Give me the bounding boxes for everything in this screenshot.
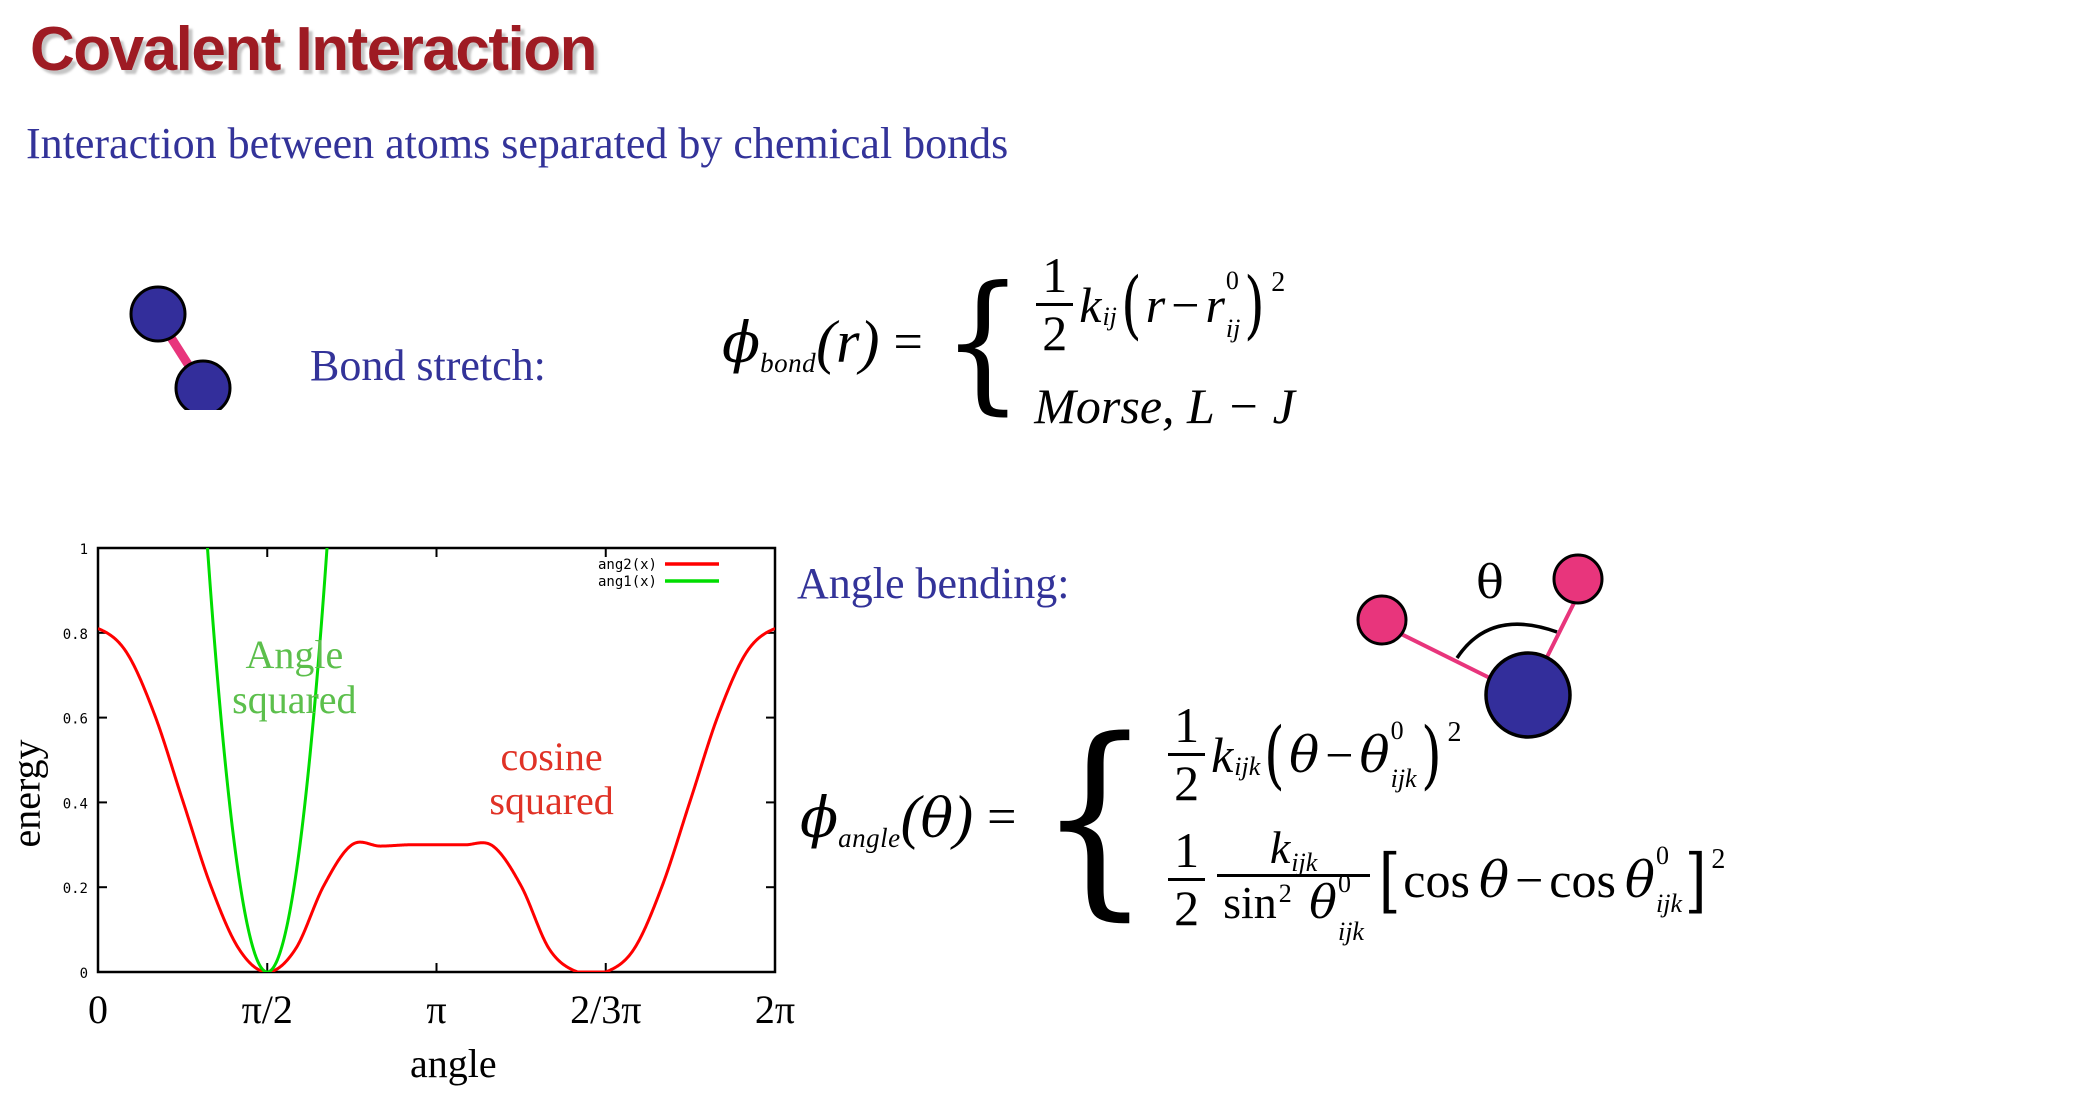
- paren-close: ): [953, 783, 973, 852]
- x-tick-label: π: [426, 986, 446, 1033]
- legend-label: ang1(x): [598, 574, 657, 590]
- atom-circle-2: [176, 361, 230, 410]
- atom-circle-1: [131, 287, 185, 341]
- phi-symbol: ϕ: [800, 786, 838, 851]
- y-axis-title: energy: [3, 739, 50, 847]
- x-tick-label: 2/3π: [570, 986, 641, 1033]
- fraction-denominator: 2: [1168, 758, 1205, 809]
- ratio-numerator: kijk: [1264, 825, 1323, 872]
- one-half-fraction: 1 2: [1168, 825, 1205, 934]
- theta-symbol: θ: [1289, 726, 1319, 784]
- theta0-symbol: θ: [1359, 726, 1389, 784]
- fraction-numerator: 1: [1168, 700, 1205, 751]
- k-subscript: ij: [1102, 302, 1116, 332]
- close-paren: ): [1244, 262, 1265, 348]
- fraction-numerator: 1: [1036, 250, 1073, 301]
- y-tick-label: 0.2: [63, 881, 88, 897]
- phi-subscript: angle: [838, 823, 901, 854]
- theta0-subsup: 0 ijk: [1656, 856, 1682, 908]
- x-tick-label: 0: [88, 986, 108, 1033]
- cos-function-2: cos: [1549, 851, 1616, 909]
- legend: ang2(x)ang1(x): [598, 557, 719, 590]
- y-tick-label: 1: [80, 542, 88, 558]
- theta0-subsup: 0 ijk: [1391, 731, 1417, 783]
- one-half-fraction: 1 2: [1168, 700, 1205, 809]
- outer-atom-left: [1358, 596, 1406, 644]
- bond-cases: 1 2 kij ( r − r 0 ij )2 Morse, L − J: [1030, 250, 1295, 435]
- annotation-angle-squared: Anglesquared: [232, 633, 356, 723]
- theta0-superscript: 0: [1338, 871, 1364, 897]
- square-exponent: 2: [1447, 717, 1461, 749]
- theta-symbol: θ: [1479, 851, 1509, 909]
- minus-sign: −: [1325, 726, 1353, 784]
- theta0-symbol: θ: [1625, 851, 1655, 909]
- y-tick-label: 0.8: [63, 627, 88, 643]
- r0-symbol: r: [1205, 276, 1224, 334]
- curve-ang2: [98, 629, 775, 972]
- cases-brace: {: [1039, 735, 1153, 899]
- paren-open: (: [901, 783, 921, 852]
- theta0-superscript: 0: [1391, 718, 1417, 744]
- cases-brace: {: [942, 284, 1023, 401]
- minus-sign: −: [1515, 851, 1543, 909]
- k-symbol: k: [1270, 825, 1290, 872]
- theta0-subsup: 0 ijk: [1338, 884, 1364, 936]
- bond-equation-lhs: ϕbond(r): [722, 308, 879, 377]
- theta0-subscript: ijk: [1338, 919, 1364, 945]
- phi-symbol: ϕ: [722, 311, 760, 376]
- angle-case-harmonic: 1 2 kijk ( θ − θ 0 ijk )2: [1162, 700, 1725, 809]
- theta0-subscript: ijk: [1656, 891, 1682, 917]
- fraction-numerator: 1: [1168, 825, 1205, 876]
- bond-stretch-equation: ϕbond(r) = { 1 2 kij ( r − r 0 ij )2: [722, 250, 1295, 435]
- k-symbol: k: [1079, 276, 1101, 334]
- r0-superscript: 0: [1226, 268, 1240, 294]
- page-title: Covalent Interaction: [30, 14, 596, 85]
- angle-equation-lhs: ϕangle(θ): [800, 783, 973, 852]
- y-tick-label: 0.6: [63, 712, 88, 728]
- x-tick-label: 2π: [755, 986, 795, 1033]
- minus-sign: −: [1171, 276, 1199, 334]
- x-axis-title: angle: [410, 1040, 497, 1087]
- k-symbol: k: [1211, 726, 1233, 784]
- energy-vs-angle-chart: energy angle 00.20.40.60.81ang2(x)ang1(x…: [30, 540, 790, 1100]
- k-subscript: ijk: [1234, 752, 1260, 782]
- bond-case-harmonic: 1 2 kij ( r − r 0 ij )2: [1030, 250, 1295, 359]
- angle-case-cosine: 1 2 kijk sin2 θ 0 ijk [ cos θ: [1162, 825, 1725, 934]
- outer-atom-right: [1554, 555, 1602, 603]
- bond-stretch-diagram: [110, 270, 280, 415]
- angle-bending-label: Angle bending:: [797, 558, 1070, 609]
- theta0-superscript: 0: [1656, 843, 1682, 869]
- x-tick-label: π/2: [242, 986, 293, 1033]
- page-subtitle: Interaction between atoms separated by c…: [26, 118, 1008, 169]
- y-tick-label: 0: [80, 966, 88, 982]
- equals-sign: =: [893, 313, 922, 372]
- fraction-denominator: 2: [1036, 308, 1073, 359]
- plot-area: 00.20.40.60.81ang2(x)ang1(x): [30, 540, 790, 1010]
- bond-case-morse: Morse, L − J: [1030, 377, 1295, 435]
- ratio-denominator: sin2 θ 0 ijk: [1217, 879, 1370, 933]
- r-symbol: r: [1146, 276, 1165, 334]
- annotation-cosine-squared: cosinesquared: [489, 735, 613, 825]
- angle-cases: 1 2 kijk ( θ − θ 0 ijk )2 1 2: [1162, 700, 1725, 934]
- open-bracket: [: [1379, 839, 1401, 921]
- r0-subscript: ij: [1226, 316, 1240, 342]
- theta-argument: θ: [921, 787, 954, 850]
- fraction-denominator: 2: [1168, 883, 1205, 934]
- angle-bending-equation: ϕangle(θ) = { 1 2 kijk ( θ − θ 0 ijk )2: [800, 700, 1725, 934]
- theta0-symbol: θ: [1309, 875, 1337, 929]
- cos-function-1: cos: [1403, 851, 1470, 909]
- phi-argument: (r): [816, 308, 879, 377]
- r0-subsup: 0 ij: [1226, 281, 1240, 333]
- theta0-subscript: ijk: [1391, 766, 1417, 792]
- open-paren: (: [1264, 712, 1285, 798]
- sin-exponent: 2: [1279, 879, 1292, 908]
- k-over-sin-fraction: kijk sin2 θ 0 ijk: [1217, 825, 1370, 933]
- plot-frame: [98, 548, 775, 972]
- angle-arc: [1457, 624, 1557, 658]
- open-paren: (: [1121, 262, 1142, 348]
- close-paren: ): [1421, 712, 1442, 798]
- k-subscript: ijk: [1291, 848, 1317, 877]
- phi-subscript: bond: [760, 348, 816, 379]
- curves-group: [98, 540, 775, 972]
- y-tick-label: 0.4: [63, 796, 88, 812]
- bond-stretch-label: Bond stretch:: [310, 340, 546, 391]
- one-half-fraction: 1 2: [1036, 250, 1073, 359]
- square-exponent: 2: [1711, 844, 1725, 876]
- close-bracket: ]: [1685, 839, 1707, 921]
- sin-function: sin: [1223, 877, 1277, 928]
- legend-label: ang2(x): [598, 557, 657, 573]
- equals-sign: =: [987, 788, 1016, 847]
- square-exponent: 2: [1271, 267, 1285, 299]
- theta-label: θ: [1476, 555, 1504, 609]
